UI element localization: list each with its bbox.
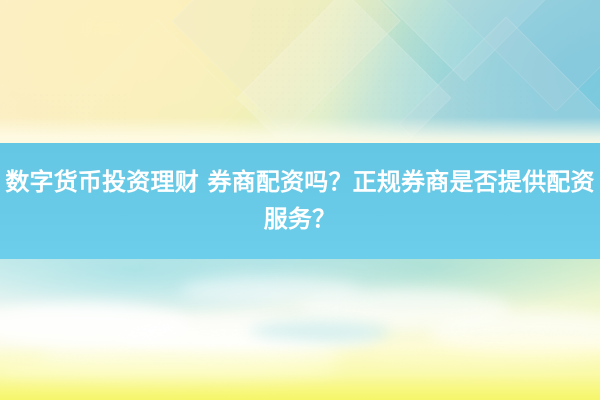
headline-banner: 数字货币投资理财 券商配资吗？正规券商是否提供配资服务？ (0, 143, 600, 259)
top-panel-haze (0, 117, 600, 143)
dot-texture-1 (250, 6, 480, 116)
banner-headline-text: 数字货币投资理财 券商配资吗？正规券商是否提供配资服务？ (4, 164, 596, 238)
sky-cloud-panel (0, 259, 600, 400)
horizon-glow (0, 344, 600, 400)
top-gradient-panel (0, 0, 600, 143)
promo-banner-image: 数字货币投资理财 券商配资吗？正规券商是否提供配资服务？ (0, 0, 600, 400)
